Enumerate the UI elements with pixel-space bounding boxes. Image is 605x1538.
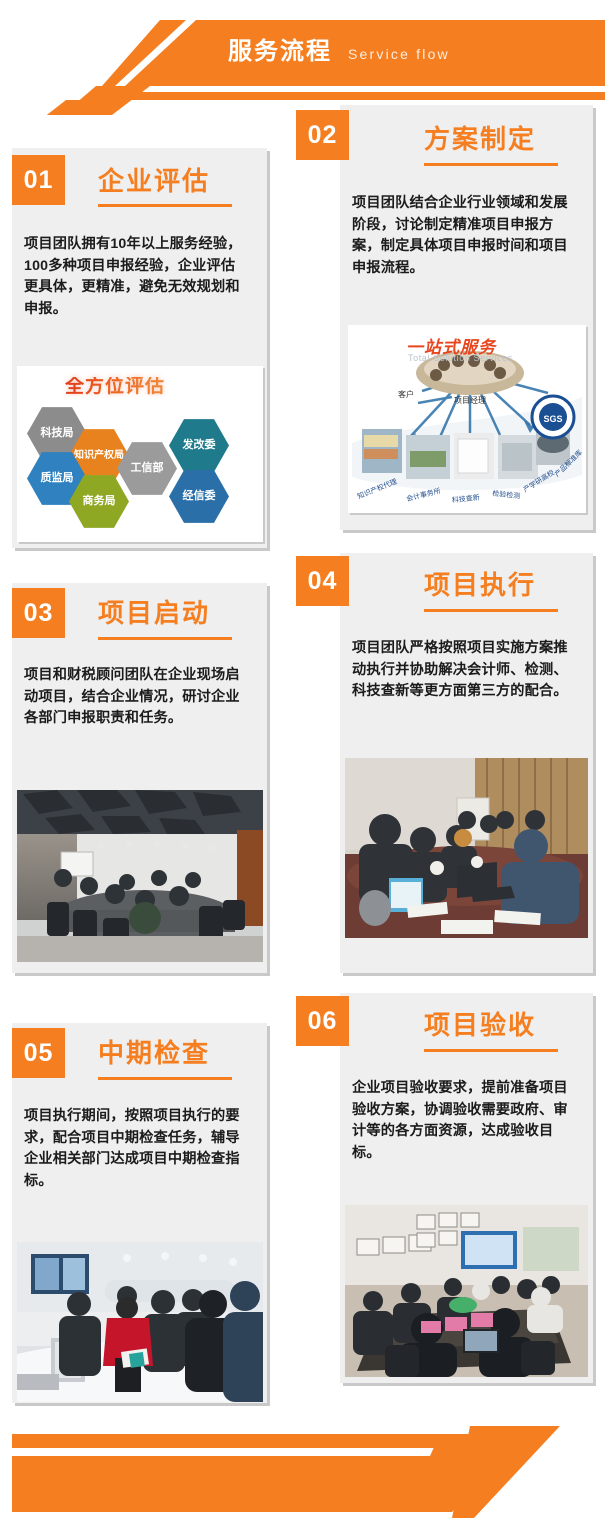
svg-text:客户: 客户: [398, 389, 414, 399]
step-title-06: 项目验收: [424, 1012, 536, 1038]
svg-text:SGS: SGS: [543, 414, 562, 424]
footer-shape: [0, 1426, 605, 1538]
step-body-01: 项目团队拥有10年以上服务经验，100多种项目申报经验，企业评估更具体，更精准，…: [24, 234, 246, 320]
footer-banner: 全国统一热线：400-150-1560: [0, 1426, 605, 1538]
workshop-photo-04: [345, 758, 588, 938]
step-photo-05: [17, 1242, 263, 1402]
step-body-05: 项目执行期间，按照项目执行的要求，配合项目中期检查任务，辅导企业相关部门达成项目…: [24, 1106, 246, 1192]
header-title: 服务流程: [228, 40, 332, 64]
step-number-badge-03: 03: [12, 588, 65, 638]
header-subtitle: Service flow: [348, 47, 450, 61]
svg-text:项目经理: 项目经理: [454, 395, 486, 405]
title-underline-02: [424, 163, 558, 166]
meeting-room-photo-03: [17, 790, 263, 962]
step-body-02: 项目团队结合企业行业领域和发展阶段，讨论制定精准项目申报方案，制定具体项目申报时…: [352, 193, 580, 279]
title-underline-03: [98, 637, 232, 640]
service-flow-diagram-02: SGS 客户 项目经理 知识产权代理 会计事务所 科技查新 检验检测 产学研高校…: [348, 325, 586, 513]
hexagon-node-fagai: 发改委: [169, 418, 229, 473]
step-number-badge-01: 01: [12, 155, 65, 205]
step-photo-06: [345, 1205, 588, 1377]
step-title-01: 企业评估: [98, 168, 210, 194]
hexagon-diagram-title: 全方位评估: [65, 377, 165, 396]
step-body-06: 企业项目验收要求，提前准备项目验收方案，协调验收需要政府、审计等的各方面资源，达…: [352, 1078, 580, 1164]
step-body-03: 项目和财税顾问团队在企业现场启动项目，结合企业情况，研讨企业各部门申报职责和任务…: [24, 665, 246, 730]
title-underline-05: [98, 1077, 232, 1080]
hexagon-node-gongxin: 工信部: [117, 441, 177, 496]
showroom-photo-05: [17, 1242, 263, 1402]
step-number-badge-05: 05: [12, 1028, 65, 1078]
header-banner: 服务流程 Service flow: [0, 0, 605, 112]
step-photo-04: [345, 758, 588, 938]
step-number-badge-04: 04: [296, 556, 349, 606]
title-underline-01: [98, 204, 232, 207]
service-flow-diagram-subtitle: Total Solution Services: [408, 353, 513, 363]
step-photo-03: [17, 790, 263, 962]
step-body-04: 项目团队严格按照项目实施方案推动执行并协助解决会计师、检测、科技查新等更方面第三…: [352, 638, 580, 703]
hexagon-diagram-01: 全方位评估 全方位评估 科技局 知识产权局 质监局 商务局 工信部 发改委 经信…: [17, 366, 263, 542]
step-number-badge-02: 02: [296, 110, 349, 160]
title-underline-06: [424, 1049, 558, 1052]
service-flow-poster: 服务流程 Service flow 01 企业评估 项目团队拥有10年以上服务经…: [0, 0, 605, 1538]
step-title-05: 中期检查: [98, 1040, 210, 1066]
step-title-04: 项目执行: [424, 572, 536, 598]
step-number-badge-06: 06: [296, 996, 349, 1046]
step-title-03: 项目启动: [98, 600, 210, 626]
hexagon-node-jingxin: 经信委: [169, 469, 229, 524]
acceptance-meeting-photo-06: [345, 1205, 588, 1377]
step-title-02: 方案制定: [424, 126, 536, 152]
title-underline-04: [424, 609, 558, 612]
